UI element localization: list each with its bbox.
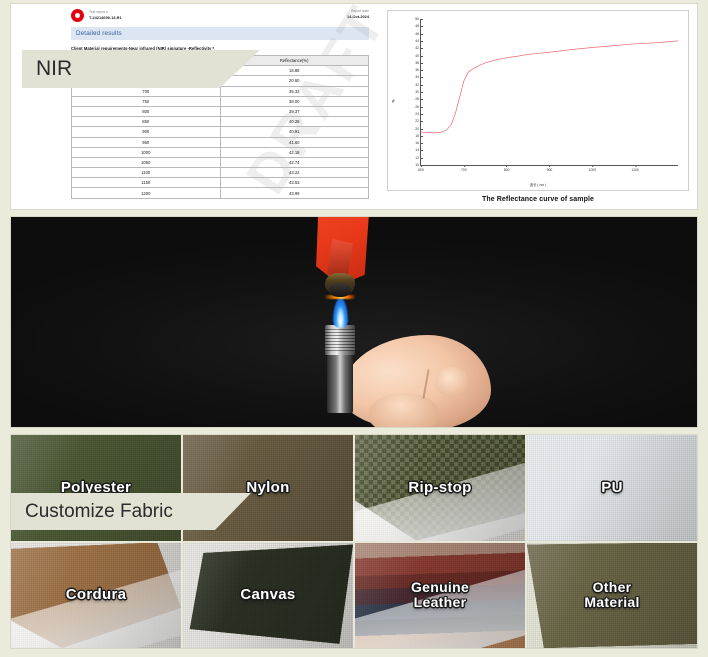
chart-axes: 1012141618202224262830323436384042444648… bbox=[420, 19, 678, 166]
cell-reflectance: 18.88 bbox=[220, 66, 369, 76]
chart-y-tick: 44 bbox=[415, 39, 421, 43]
chart-x-axis-label: 波长 ( nm ) bbox=[530, 182, 547, 187]
customize-fabric-grid: PolyesterNylonRip-stopPUCorduraCanvasGen… bbox=[10, 434, 698, 649]
chart-caption: The Reflectance curve of sample bbox=[387, 196, 689, 203]
cell-reflectance: 35.33 bbox=[220, 86, 369, 96]
chart-y-tick: 34 bbox=[415, 75, 421, 79]
cell-reflectance: 41.60 bbox=[220, 137, 369, 147]
report-date-value: 14-Oct-2024 bbox=[347, 14, 369, 20]
cell-wavelength: 850 bbox=[72, 117, 221, 127]
flame-retardant-panel: Flame-Retardant bbox=[10, 216, 698, 428]
cell-wavelength: 1000 bbox=[72, 147, 221, 157]
table-row: 95041.60 bbox=[72, 137, 369, 147]
lighter-ridges bbox=[325, 329, 355, 351]
cell-reflectance: 42.18 bbox=[220, 147, 369, 157]
cell-wavelength: 1050 bbox=[72, 157, 221, 167]
chart-y-tick: 40 bbox=[415, 54, 421, 58]
nir-panel: Test report # T-24214699-13-R1 Report da… bbox=[10, 3, 698, 210]
cell-reflectance: 40.28 bbox=[220, 117, 369, 127]
flame-test-scene bbox=[249, 217, 459, 427]
fabric-cell[interactable]: GenuineLeather bbox=[355, 543, 525, 649]
fabric-cell[interactable]: Cordura bbox=[11, 543, 181, 649]
fabric-sheen bbox=[527, 543, 697, 649]
table-row: 85040.28 bbox=[72, 117, 369, 127]
fabric-cell[interactable]: Canvas bbox=[183, 543, 353, 649]
product-detail-page: Test report # T-24214699-13-R1 Report da… bbox=[0, 0, 708, 657]
cell-wavelength: 1100 bbox=[72, 168, 221, 178]
chart-x-tick: 700 bbox=[461, 165, 467, 172]
chart-y-tick: 30 bbox=[415, 90, 421, 94]
cell-reflectance: 20.60 bbox=[220, 76, 369, 86]
chart-y-tick: 20 bbox=[415, 127, 421, 131]
fabric-sheen bbox=[355, 543, 525, 649]
flame-core bbox=[337, 307, 344, 325]
chart-y-tick: 16 bbox=[415, 141, 421, 145]
cell-reflectance: 40.91 bbox=[220, 127, 369, 137]
chart-y-tick: 38 bbox=[415, 61, 421, 65]
chart-y-tick: 32 bbox=[415, 83, 421, 87]
lighter-body bbox=[327, 351, 353, 413]
nir-tag-banner: NIR bbox=[22, 50, 260, 88]
table-row: 80039.37 bbox=[72, 106, 369, 116]
chart-plot-area: % 10121416182022242628303234363840424446… bbox=[387, 10, 689, 191]
fabric-sheen bbox=[355, 435, 525, 541]
fabric-sheen bbox=[11, 543, 181, 649]
cell-wavelength: 800 bbox=[72, 106, 221, 116]
cell-reflectance: 38.00 bbox=[220, 96, 369, 106]
fabric-cell[interactable]: Rip-stop bbox=[355, 435, 525, 541]
test-report-value: T-24214699-13-R1 bbox=[89, 15, 122, 21]
nir-test-report-document: Test report # T-24214699-13-R1 Report da… bbox=[11, 4, 383, 209]
chart-y-tick: 36 bbox=[415, 68, 421, 72]
chart-y-tick: 48 bbox=[415, 24, 421, 28]
customize-fabric-tag-label: Customize Fabric bbox=[11, 501, 173, 523]
cell-reflectance: 39.37 bbox=[220, 106, 369, 116]
table-row: 90040.91 bbox=[72, 127, 369, 137]
table-row: 110043.22 bbox=[72, 168, 369, 178]
nir-tag-label: NIR bbox=[22, 57, 72, 81]
chart-x-tick: 1100 bbox=[632, 165, 639, 172]
chart-y-axis-label: % bbox=[392, 99, 396, 102]
cell-wavelength: 750 bbox=[72, 96, 221, 106]
charred-tip-core bbox=[329, 283, 351, 297]
fabric-cell[interactable]: PU bbox=[527, 435, 697, 541]
hand-knuckles bbox=[369, 393, 439, 428]
cell-reflectance: 42.74 bbox=[220, 157, 369, 167]
cell-wavelength: 1150 bbox=[72, 178, 221, 188]
chart-y-tick: 46 bbox=[415, 32, 421, 36]
table-row: 75038.00 bbox=[72, 96, 369, 106]
chart-y-tick: 24 bbox=[415, 112, 421, 116]
fabric-sheen bbox=[527, 435, 697, 541]
table-row: 115043.53 bbox=[72, 178, 369, 188]
chart-y-tick: 28 bbox=[415, 97, 421, 101]
cell-reflectance: 43.22 bbox=[220, 168, 369, 178]
chart-y-tick: 26 bbox=[415, 105, 421, 109]
customize-fabric-tag-banner: Customize Fabric bbox=[11, 493, 251, 530]
reflectance-curve bbox=[421, 19, 678, 165]
chart-y-tick: 50 bbox=[415, 17, 421, 21]
cell-reflectance: 43.53 bbox=[220, 178, 369, 188]
chart-x-tick: 900 bbox=[547, 165, 553, 172]
chart-y-tick: 18 bbox=[415, 134, 421, 138]
chart-x-tick: 600 bbox=[418, 165, 424, 172]
chart-y-tick: 22 bbox=[415, 119, 421, 123]
cell-reflectance: 43.99 bbox=[220, 188, 369, 198]
chart-y-tick: 14 bbox=[415, 148, 421, 152]
chart-x-tick: 1000 bbox=[589, 165, 597, 172]
table-row: 105042.74 bbox=[72, 157, 369, 167]
chart-x-tick: 800 bbox=[504, 165, 510, 172]
chart-y-tick: 12 bbox=[415, 156, 421, 160]
fabric-cell[interactable]: OtherMaterial bbox=[527, 543, 697, 649]
reflectance-chart: % 10121416182022242628303234363840424446… bbox=[383, 4, 697, 209]
cell-wavelength: 950 bbox=[72, 137, 221, 147]
cell-wavelength: 1200 bbox=[72, 188, 221, 198]
hand-thumb bbox=[435, 367, 469, 397]
fabric-sheen bbox=[183, 543, 353, 649]
report-header: Test report # T-24214699-13-R1 Report da… bbox=[71, 4, 375, 22]
table-row: 100042.18 bbox=[72, 147, 369, 157]
lab-logo-icon bbox=[71, 9, 84, 22]
chart-y-tick: 42 bbox=[415, 46, 421, 50]
detailed-results-band: Detailed results bbox=[71, 27, 369, 40]
cell-wavelength: 900 bbox=[72, 127, 221, 137]
table-row: 120043.99 bbox=[72, 188, 369, 198]
